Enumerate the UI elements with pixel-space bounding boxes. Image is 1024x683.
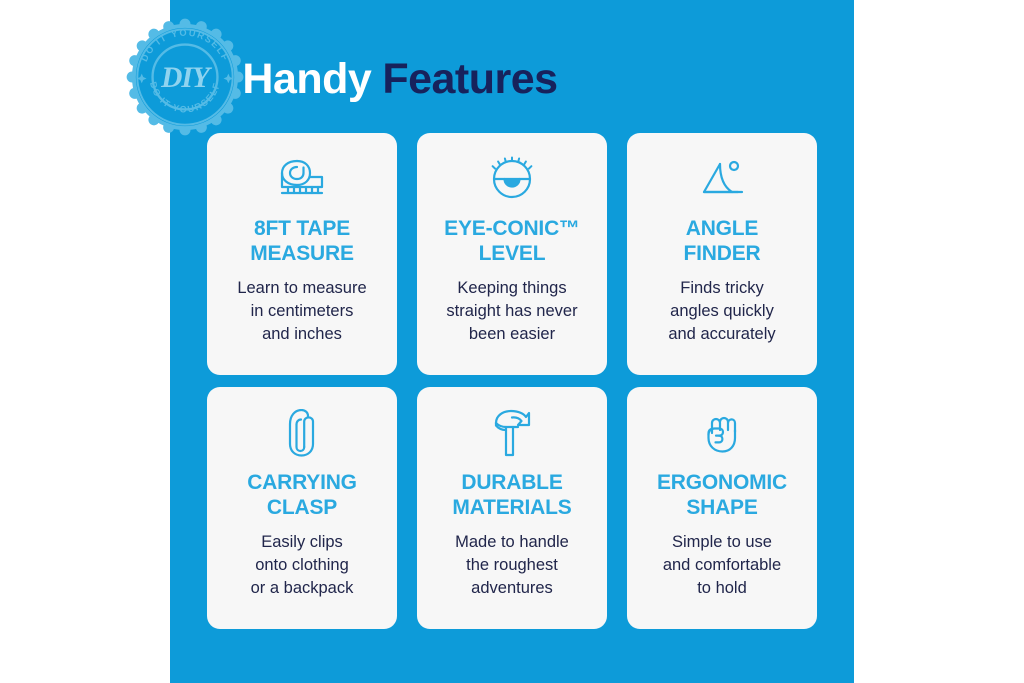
feature-card-durable-materials[interactable]: DURABLE MATERIALS Made to handle the rou…	[417, 387, 607, 629]
feature-card-carrying-clasp[interactable]: CARRYING CLASP Easily clips onto clothin…	[207, 387, 397, 629]
angle-finder-icon	[698, 155, 746, 203]
feature-card-body: Learn to measure in centimeters and inch…	[237, 277, 366, 347]
feature-card-angle-finder[interactable]: ANGLE FINDER Finds tricky angles quickly…	[627, 133, 817, 375]
page-title-word-2: Features	[382, 55, 557, 103]
feature-card-body: Easily clips onto clothing or a backpack	[251, 531, 354, 601]
eye-level-icon	[489, 155, 535, 203]
features-grid: 8FT TAPE MEASURE Learn to measure in cen…	[207, 133, 817, 629]
feature-card-title: 8FT TAPE MEASURE	[250, 217, 354, 267]
diy-seal-badge: DO IT YOURSELF DO IT YOURSELF DIY	[126, 18, 244, 136]
feature-card-body: Simple to use and comfortable to hold	[663, 531, 781, 601]
hammer-icon	[491, 409, 533, 457]
feature-card-body: Finds tricky angles quickly and accurate…	[668, 277, 775, 347]
feature-card-title: DURABLE MATERIALS	[452, 471, 571, 521]
feature-card-body: Made to handle the roughest adventures	[455, 531, 569, 601]
feature-card-title: ANGLE FINDER	[684, 217, 761, 267]
page-title: HandyFeatures	[242, 58, 557, 101]
fist-grip-icon	[699, 409, 745, 457]
page-title-word-1: Handy	[242, 55, 371, 103]
feature-card-title: ERGONOMIC SHAPE	[657, 471, 787, 521]
feature-card-title: EYE-CONIC™ LEVEL	[444, 217, 580, 267]
feature-grid-page: DO IT YOURSELF DO IT YOURSELF DIY HandyF…	[0, 0, 1024, 683]
badge-monogram: DIY	[160, 62, 213, 94]
header: DO IT YOURSELF DO IT YOURSELF DIY HandyF…	[0, 22, 684, 132]
carabiner-clasp-icon	[286, 409, 318, 457]
feature-card-title: CARRYING CLASP	[247, 471, 357, 521]
feature-card-tape-measure[interactable]: 8FT TAPE MEASURE Learn to measure in cen…	[207, 133, 397, 375]
feature-card-ergonomic-shape[interactable]: ERGONOMIC SHAPE Simple to use and comfor…	[627, 387, 817, 629]
feature-card-eye-conic-level[interactable]: EYE-CONIC™ LEVEL Keeping things straight…	[417, 133, 607, 375]
feature-card-body: Keeping things straight has never been e…	[446, 277, 577, 347]
tape-measure-icon	[276, 155, 328, 203]
